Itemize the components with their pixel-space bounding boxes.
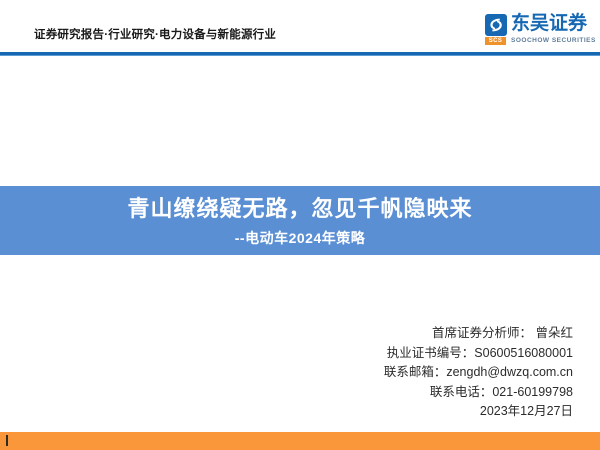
logo-name-en: SOOCHOW SECURITIES	[511, 37, 596, 45]
logo-name-cn: 东吴证券	[511, 13, 587, 35]
title-banner: 青山缭绕疑无路，忽见千帆隐映来 --电动车2024年策略	[0, 186, 600, 255]
logo-badge-scs: SCS	[485, 37, 506, 45]
brand-logo: 东吴证券 SCS SOOCHOW SECURITIES	[485, 14, 589, 48]
report-cover-page: 证券研究报告·行业研究·电力设备与新能源行业 东吴证券 SCS SOOCHOW …	[0, 0, 600, 450]
header-breadcrumb: 证券研究报告·行业研究·电力设备与新能源行业	[34, 28, 276, 42]
publish-date-line: 2023年12月27日	[384, 402, 573, 422]
footer-tick-mark	[6, 435, 8, 446]
page-title: 青山缭绕疑无路，忽见千帆隐映来	[127, 194, 472, 224]
phone-line: 联系电话：021-60199798	[384, 383, 573, 403]
page-header: 证券研究报告·行业研究·电力设备与新能源行业 东吴证券 SCS SOOCHOW …	[0, 0, 600, 52]
license-number-line: 执业证书编号：S0600516080001	[384, 344, 573, 364]
analyst-name-line: 首席证券分析师： 曾朵红	[384, 324, 573, 344]
email-line: 联系邮箱：zengdh@dwzq.com.cn	[384, 363, 573, 383]
footer-bar	[0, 432, 600, 450]
soochow-swirl-icon	[485, 14, 507, 36]
analyst-contact-block: 首席证券分析师： 曾朵红 执业证书编号：S0600516080001 联系邮箱：…	[384, 324, 573, 422]
page-subtitle: --电动车2024年策略	[235, 228, 365, 248]
header-divider-soft	[0, 55, 600, 56]
